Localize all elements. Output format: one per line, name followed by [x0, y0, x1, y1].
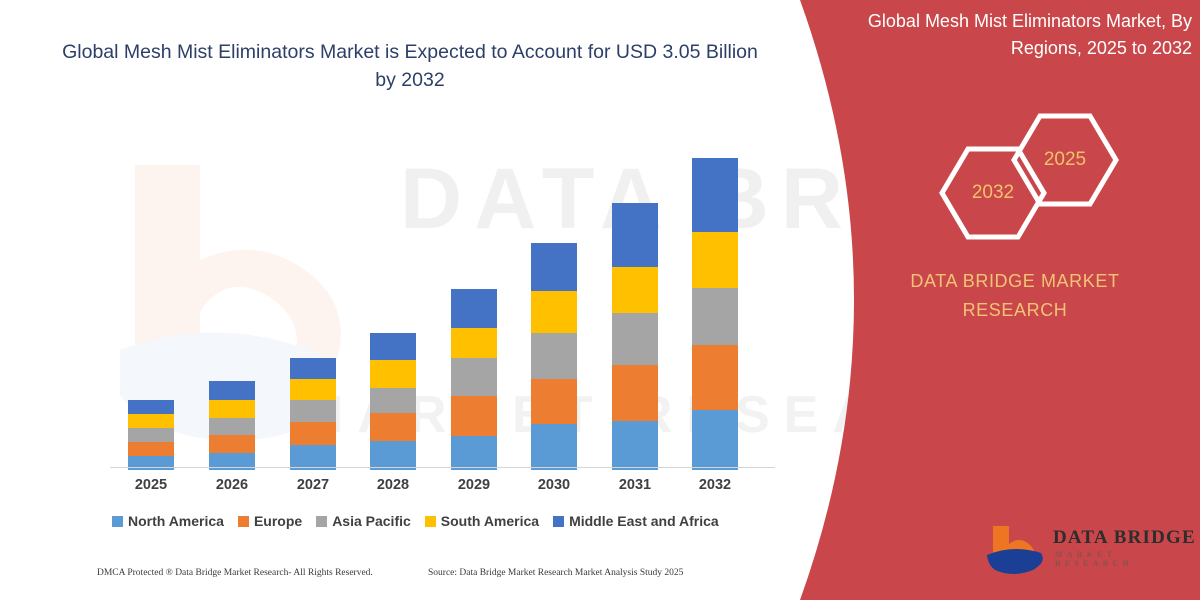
brand-name: DATA BRIDGE MARKET RESEARCH: [830, 267, 1200, 325]
brand-line-1: DATA BRIDGE MARKET: [910, 271, 1119, 291]
brand-line-2: RESEARCH: [963, 300, 1068, 320]
logo-wordmark: DATA BRIDGE: [1053, 527, 1196, 549]
company-logo: DATA BRIDGE MARKET RESEARCH: [985, 520, 1200, 578]
data-bridge-logo-icon: [985, 522, 1047, 574]
hexagon-2025-label: 2025: [1044, 149, 1086, 171]
hexagon-2032-label: 2032: [972, 182, 1014, 204]
logo-tagline: MARKET RESEARCH: [1055, 550, 1200, 568]
right-panel-title: Global Mesh Mist Eliminators Market, By …: [830, 8, 1192, 62]
right-panel-content: Global Mesh Mist Eliminators Market, By …: [830, 0, 1200, 600]
hexagon-badge-2032: 2032: [938, 145, 1048, 241]
